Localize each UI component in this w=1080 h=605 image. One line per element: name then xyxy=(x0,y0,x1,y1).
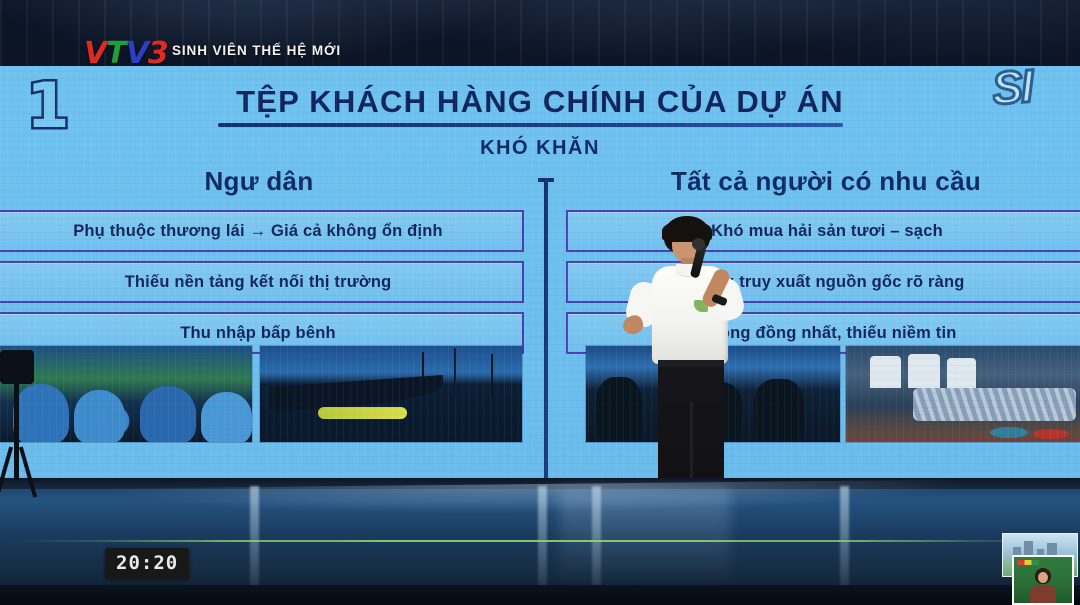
slide-photo-market xyxy=(846,346,1080,442)
show-name: SINH VIÊN THẾ HỆ MỚI xyxy=(172,43,341,58)
slide-photo-dock xyxy=(260,346,522,442)
column-heading-left: Ngư dân xyxy=(0,166,524,197)
floor-green-line xyxy=(0,540,1080,542)
broadcast-frame: VTV3 SINH VIÊN THẾ HỆ MỚI 1 TỆP KHÁCH HÀ… xyxy=(0,0,1080,605)
photo-figure xyxy=(140,386,196,442)
pip-person-body xyxy=(1030,585,1056,603)
presenter-fringe xyxy=(662,220,712,242)
column-divider xyxy=(544,180,548,478)
column-fishermen: Ngư dân Phụ thuộc thương lái → Giá cả kh… xyxy=(0,166,524,363)
pain-point-text: Thu nhập bấp bênh xyxy=(180,324,336,343)
pain-point-item: Phụ thuộc thương lái → Giá cả không ổn đ… xyxy=(0,210,524,252)
camera-rig-icon xyxy=(0,350,40,500)
photo-fish-pile xyxy=(913,388,1076,421)
timestamp: 20:20 xyxy=(105,548,189,579)
title-underline xyxy=(218,123,843,127)
microphone-head xyxy=(692,238,705,250)
photo-boat xyxy=(270,375,443,412)
pip-person-face xyxy=(1038,572,1048,583)
photo-bowl xyxy=(990,427,1028,439)
tripod-leg xyxy=(0,446,13,497)
picture-in-picture[interactable] xyxy=(1004,533,1078,605)
photo-mast xyxy=(491,354,493,396)
pip-color-bar xyxy=(1017,560,1039,565)
presenter-reflection xyxy=(560,488,730,588)
pain-point-text: Phụ thuộc thương lái → Giá cả không ổn đ… xyxy=(73,222,443,241)
photo-figure xyxy=(947,358,976,389)
pain-point-text: Thiếu nền tảng kết nối thị trường xyxy=(125,273,392,292)
pain-point-item: Thiếu nền tảng kết nối thị trường xyxy=(0,261,524,303)
presenter-belt xyxy=(658,360,724,367)
photo-figure xyxy=(870,356,901,389)
slide-title: TỆP KHÁCH HÀNG CHÍNH CỦA DỰ ÁN xyxy=(0,84,1080,120)
pip-foreground-scene xyxy=(1012,555,1074,605)
tripod-pole xyxy=(14,380,19,480)
camera-body xyxy=(0,350,34,384)
photo-figure xyxy=(908,354,939,389)
photo-figure xyxy=(74,390,125,442)
column-heading-right: Tất cả người có nhu cầu xyxy=(566,166,1080,197)
slide-subtitle: KHÓ KHĂN xyxy=(0,137,1080,160)
photo-red-basin xyxy=(1033,429,1069,440)
stage-floor xyxy=(0,478,1080,605)
photo-mast xyxy=(422,352,424,396)
photo-mast xyxy=(454,348,456,398)
led-slide: 1 TỆP KHÁCH HÀNG CHÍNH CỦA DỰ ÁN KHÓ KHĂ… xyxy=(0,66,1080,478)
floor-front-lip xyxy=(0,585,1080,605)
photo-figure xyxy=(201,392,252,442)
tripod-leg xyxy=(19,446,37,497)
corner-logo-icon: SI xyxy=(990,66,1080,125)
photo-net xyxy=(318,407,407,419)
